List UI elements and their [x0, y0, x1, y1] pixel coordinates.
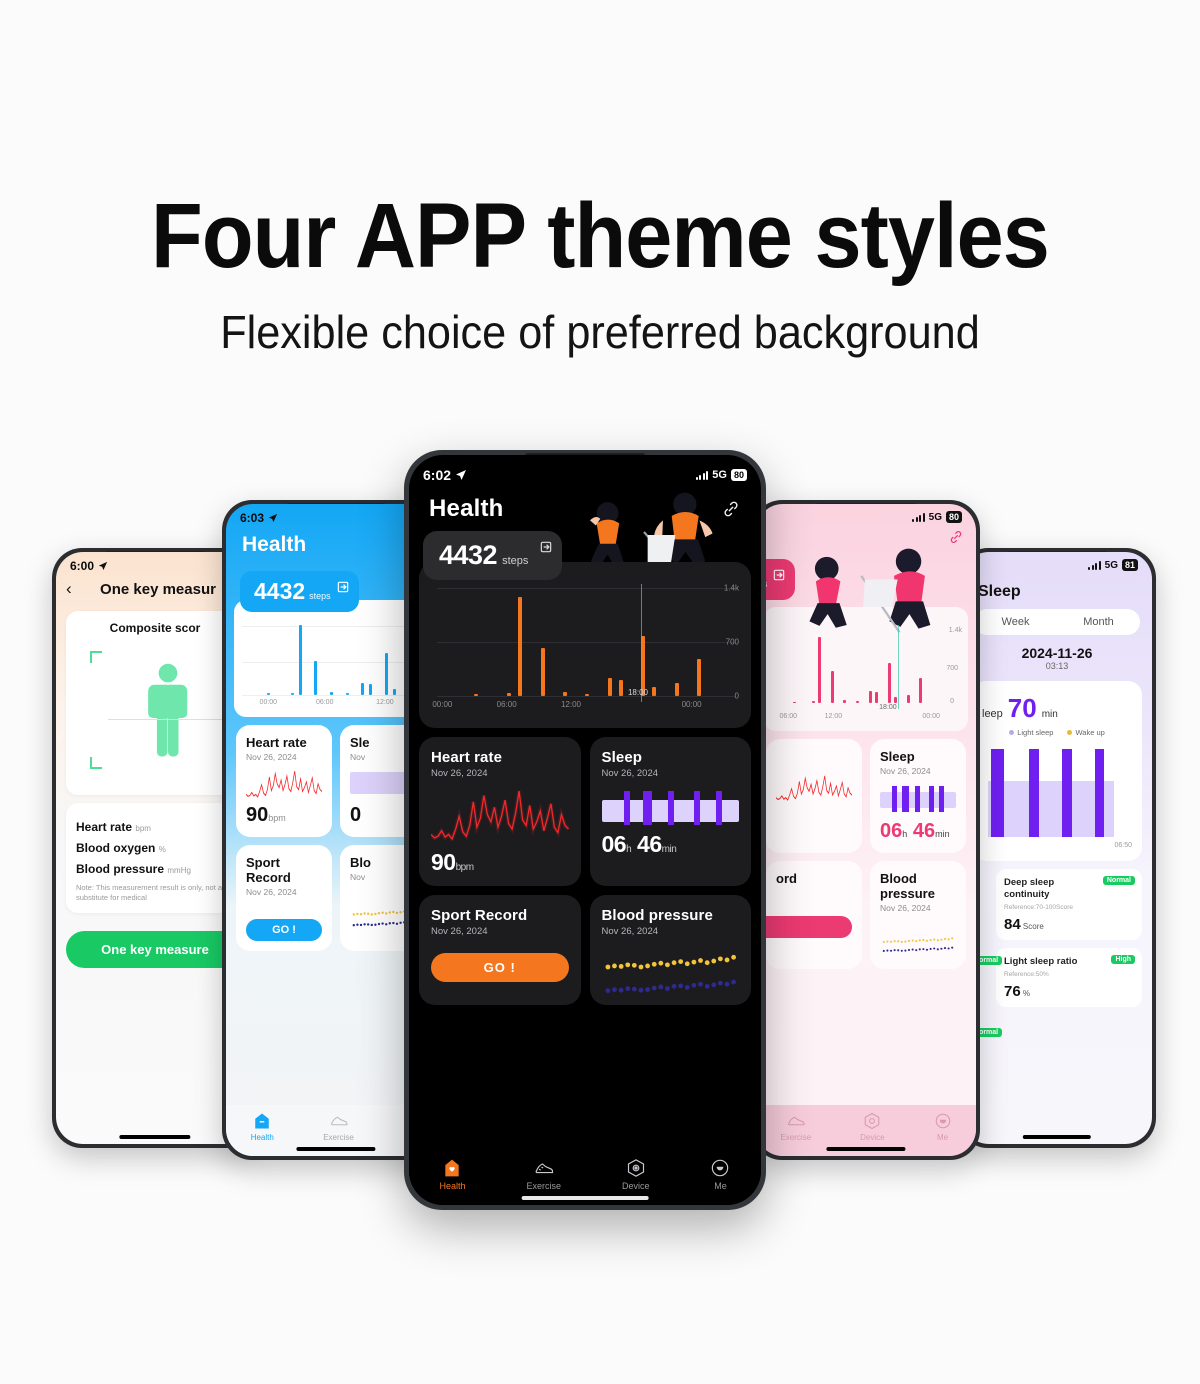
- chart-bar: [619, 680, 623, 696]
- chart-bar: [385, 653, 388, 695]
- signal-bars-icon: [912, 513, 925, 522]
- card-date: Nov 26, 2024: [431, 768, 569, 779]
- person-icon: [710, 1158, 730, 1178]
- bp-dot: [356, 924, 358, 926]
- card-title: Sleep: [880, 749, 956, 764]
- chart-end-label: 06:50: [982, 842, 1132, 849]
- bp-dot: [915, 949, 917, 951]
- bp-dot: [625, 962, 630, 967]
- home-health-icon: [253, 1112, 271, 1130]
- legend-light-sleep: Light sleep: [1009, 728, 1053, 737]
- bp-dot: [933, 938, 935, 940]
- steps-unit: steps: [309, 591, 331, 603]
- chart-bar: [812, 701, 815, 703]
- card-title: Sport Record: [246, 855, 322, 885]
- status-badge: Normal: [1103, 876, 1135, 885]
- chart-bar: [563, 692, 567, 696]
- chart-bar: [919, 678, 922, 703]
- chart-bar: [831, 671, 834, 703]
- card-date: Nov 26, 2024: [880, 903, 956, 913]
- bp-dot: [378, 923, 380, 925]
- bp-dot: [883, 950, 885, 952]
- bp-dot: [915, 940, 917, 942]
- bp-dot: [698, 958, 703, 963]
- chart-bar: [888, 663, 891, 703]
- battery-level: 81: [1122, 559, 1138, 571]
- device-icon: [626, 1158, 646, 1178]
- export-icon[interactable]: [539, 540, 553, 554]
- bp-dot: [638, 988, 643, 993]
- bp-dot: [684, 961, 689, 966]
- chart-bar: [393, 689, 396, 696]
- bp-dot: [645, 964, 650, 969]
- status-bar: 5G 81: [962, 552, 1152, 573]
- phone-pink-theme[interactable]: 5G 80: [752, 500, 980, 1160]
- card-blood-pressure[interactable]: Blood pressure Nov 26, 2024: [590, 895, 752, 1005]
- bp-dot: [381, 922, 383, 924]
- metric-label: Heart rate: [76, 820, 132, 834]
- tab-device[interactable]: Device: [622, 1158, 650, 1191]
- card-title: Blood pressure: [602, 907, 740, 924]
- card-title: ord: [776, 871, 852, 886]
- location-arrow-icon: [98, 561, 108, 571]
- bp-dot: [631, 963, 636, 968]
- bp-dot: [908, 940, 910, 942]
- dark-theme-screen: 6:02 5G 80 Health: [409, 455, 761, 1205]
- bp-dot: [381, 912, 383, 914]
- bp-dot: [937, 948, 939, 950]
- y-tick-label: 0: [735, 692, 739, 701]
- bp-dot: [717, 956, 722, 961]
- composite-score-label: Composite scor: [76, 621, 234, 635]
- link-icon[interactable]: [948, 529, 964, 545]
- chart-bar: [585, 694, 589, 696]
- location-arrow-icon: [455, 469, 467, 481]
- card-title: Sleep: [602, 749, 740, 766]
- bp-dot: [684, 985, 689, 990]
- status-bar: 6:02 5G 80: [409, 455, 761, 485]
- card-sleep[interactable]: Sleep Nov 26, 2024 06h 46min: [870, 739, 966, 853]
- bp-dot: [724, 958, 729, 963]
- bp-dot: [922, 948, 924, 950]
- bp-dot: [930, 948, 932, 950]
- card-date: Nov 26, 2024: [431, 926, 569, 937]
- bp-dot: [658, 961, 663, 966]
- chart-bar: [507, 693, 511, 696]
- bp-dot: [948, 938, 950, 940]
- bp-dot: [930, 939, 932, 941]
- chart-bar: [856, 701, 859, 703]
- card-unit: Score: [1023, 922, 1044, 931]
- blood-pressure-dots: [880, 929, 956, 959]
- tab-me[interactable]: Me: [934, 1112, 952, 1142]
- sleep-summary-card[interactable]: leep 70 min Light sleep Wake up: [972, 681, 1142, 861]
- metric-row: Blood pressure mmHg: [76, 862, 234, 876]
- heart-rate-waveform: [776, 775, 852, 803]
- tab-me[interactable]: Me: [710, 1158, 730, 1191]
- bp-dot: [392, 911, 394, 913]
- bp-dot: [894, 949, 896, 951]
- chart-bar: [369, 684, 372, 695]
- metric-cards-grid: Heart rate Nov 26, 2024 90bpm Sleep Nov: [409, 728, 761, 1005]
- chart-bar: [608, 678, 612, 696]
- chart-bar: [869, 691, 872, 703]
- bp-dot: [605, 988, 610, 993]
- bp-dot: [371, 924, 373, 926]
- segment-week[interactable]: Week: [974, 609, 1057, 635]
- bp-dot: [665, 986, 670, 991]
- shoe-icon: [534, 1158, 554, 1178]
- sleep-stage-bars: [880, 786, 956, 812]
- steps-unit: steps: [502, 555, 528, 569]
- bp-dot: [731, 980, 736, 985]
- bp-dot: [612, 964, 617, 969]
- location-arrow-icon: [268, 513, 278, 523]
- bp-dot: [704, 960, 709, 965]
- bp-dot: [363, 923, 365, 925]
- chart-bar: [818, 637, 821, 703]
- card-value: 06h 46min: [880, 820, 956, 843]
- card-unit: %: [1023, 989, 1030, 998]
- bp-dot: [678, 983, 683, 988]
- bp-dot: [389, 922, 391, 924]
- home-indicator: [522, 1196, 649, 1200]
- metric-unit: %: [159, 845, 166, 854]
- tab-health[interactable]: Health: [251, 1112, 274, 1142]
- metrics-card[interactable]: Heart rate bpm Blood oxygen % Blood pres…: [66, 803, 244, 913]
- bp-dot: [645, 987, 650, 992]
- card-value: 90bpm: [431, 849, 569, 876]
- bp-dot: [704, 984, 709, 989]
- signal-bars-icon: [696, 471, 709, 480]
- bp-dot: [711, 982, 716, 987]
- selected-date: 2024-11-26: [962, 645, 1152, 661]
- card-date: Nov 26, 2024: [246, 887, 322, 897]
- chart-bar: [641, 636, 645, 696]
- chart-bar: [330, 692, 333, 695]
- go-button[interactable]: GO !: [431, 953, 569, 982]
- bp-dot: [353, 913, 355, 915]
- chart-bar: [541, 648, 545, 696]
- summary-prefix: leep: [982, 708, 1003, 720]
- metric-row: Heart rate bpm: [76, 820, 234, 834]
- steps-chart-card[interactable]: 07001.4k 00:0006:0012:0018:0000:00: [419, 562, 751, 728]
- home-indicator: [119, 1135, 190, 1139]
- summary-unit: min: [1042, 709, 1058, 720]
- one-key-measure-button[interactable]: One key measure: [66, 931, 244, 968]
- bp-dot: [912, 939, 914, 941]
- card-title: Light sleep ratio: [1004, 956, 1095, 968]
- heart-rate-waveform: [246, 770, 322, 800]
- network-type: 5G: [712, 469, 727, 481]
- phone-dark-theme[interactable]: 6:02 5G 80 Health: [404, 450, 766, 1210]
- period-segmented-control[interactable]: Week Month: [974, 609, 1140, 635]
- status-badge: High: [1111, 955, 1135, 964]
- bp-dot: [367, 913, 369, 915]
- bp-dot: [919, 939, 921, 941]
- bp-dot: [678, 959, 683, 964]
- selected-time: 03:13: [962, 661, 1152, 671]
- y-tick-label: 700: [726, 638, 739, 647]
- x-tick-label: 12:00: [376, 699, 394, 706]
- x-tick-label: 00:00: [432, 700, 452, 709]
- bp-dot: [912, 948, 914, 950]
- page-header-title: Health: [429, 495, 504, 523]
- bp-dot: [378, 912, 380, 914]
- status-bar: 5G 80: [756, 504, 976, 525]
- bp-dot: [631, 987, 636, 992]
- steps-chart: 07001.4k: [437, 588, 705, 696]
- bp-dot: [618, 988, 623, 993]
- sleep-chart: [982, 747, 1132, 839]
- card-date: Nov 26, 2024: [246, 752, 322, 762]
- chart-bar: [675, 683, 679, 696]
- metric-unit: mmHg: [167, 866, 191, 875]
- steps-value: 4432: [254, 580, 305, 603]
- pink-theme-screen: 5G 80: [756, 504, 976, 1156]
- bp-dot: [940, 939, 942, 941]
- go-button[interactable]: GO !: [246, 919, 322, 941]
- shoe-icon: [787, 1112, 805, 1130]
- metric-label: Blood oxygen: [76, 841, 155, 855]
- chart-bar: [697, 659, 701, 696]
- bp-dot: [605, 965, 610, 970]
- y-tick-label: 1.4k: [724, 584, 739, 593]
- steps-value: 4432: [439, 542, 497, 569]
- card-sport-record[interactable]: ord: [766, 861, 862, 969]
- bp-dot: [901, 950, 903, 952]
- bp-dot: [894, 940, 896, 942]
- bp-dot: [904, 950, 906, 952]
- bp-dot: [399, 911, 401, 913]
- tab-health[interactable]: Health: [439, 1158, 465, 1191]
- home-indicator: [296, 1147, 375, 1151]
- tab-device[interactable]: Device: [860, 1112, 884, 1142]
- x-tick-label: 00:00: [260, 699, 278, 706]
- bp-dot: [671, 960, 676, 965]
- battery-level: 80: [731, 469, 747, 481]
- chart-bar: [875, 692, 878, 703]
- phone-purple-theme[interactable]: 5G 81 Sleep Week Month 2024-11-26 03:13 …: [958, 548, 1156, 1148]
- bp-dot: [353, 924, 355, 926]
- bp-dot: [360, 913, 362, 915]
- chart-bar: [907, 695, 910, 703]
- x-tick-label: 06:00: [497, 700, 517, 709]
- card-deep-sleep-continuity[interactable]: Normal Deep sleep continuity Reference:7…: [996, 869, 1142, 940]
- legend-wake-up: Wake up: [1067, 728, 1104, 737]
- bp-dot: [392, 922, 394, 924]
- bp-dot: [356, 913, 358, 915]
- nav-title: One key measur: [72, 581, 244, 598]
- go-button[interactable]: [756, 916, 852, 938]
- card-title: Heart rate: [431, 749, 569, 766]
- card-sleep[interactable]: Sleep Nov 26, 2024 06h 46min: [590, 737, 752, 886]
- bp-dot: [904, 941, 906, 943]
- tab-exercise[interactable]: Exercise: [780, 1112, 811, 1142]
- card-light-sleep-ratio[interactable]: High Light sleep ratio Reference:50% 76 …: [996, 948, 1142, 1007]
- date-block: 2024-11-26 03:13: [962, 645, 1152, 671]
- chart-bar: [267, 693, 270, 695]
- chart-bar: [314, 661, 317, 695]
- bars-group: [437, 588, 705, 696]
- status-time: 6:02: [423, 467, 451, 483]
- bp-dot: [389, 911, 391, 913]
- status-time: 6:00: [70, 559, 94, 573]
- x-tick-label: 06:00: [316, 699, 334, 706]
- home-health-icon: [442, 1158, 462, 1178]
- metric-unit: bpm: [135, 824, 151, 833]
- export-icon[interactable]: [772, 568, 786, 582]
- sleep-stage-bars: [602, 791, 740, 825]
- card-heart-rate[interactable]: Heart rate Nov 26, 2024 90bpm: [419, 737, 581, 886]
- card-title: Blood pressure: [880, 871, 956, 901]
- blood-pressure-dots: [602, 951, 740, 995]
- shoe-icon: [330, 1112, 348, 1130]
- bp-dot: [717, 981, 722, 986]
- link-icon[interactable]: [721, 499, 741, 519]
- card-value: 90bpm: [246, 804, 322, 827]
- card-heart-rate[interactable]: Heart rate Nov 26, 2024 90bpm: [236, 725, 332, 837]
- bp-dot: [618, 964, 623, 969]
- chart-bar: [361, 683, 364, 695]
- chart-bar: [346, 693, 349, 695]
- card-date: Nov 26, 2024: [602, 768, 740, 779]
- bp-dot: [396, 923, 398, 925]
- bp-dot: [374, 913, 376, 915]
- bp-dot: [360, 924, 362, 926]
- bp-dot: [371, 913, 373, 915]
- chart-bar: [843, 700, 846, 703]
- bp-dot: [897, 949, 899, 951]
- battery-level: 80: [946, 511, 962, 523]
- bp-dot: [374, 924, 376, 926]
- card-sport-record[interactable]: Sport Record Nov 26, 2024 GO !: [236, 845, 332, 951]
- card-reference: Reference:50%: [1004, 971, 1134, 978]
- bp-dot: [671, 984, 676, 989]
- app-header: Health: [409, 485, 761, 523]
- chart-bar: [474, 694, 478, 696]
- bp-dot: [698, 982, 703, 987]
- bp-dot: [399, 922, 401, 924]
- bp-dot: [890, 941, 892, 943]
- card-title: Sport Record: [431, 907, 569, 924]
- bp-dot: [919, 948, 921, 950]
- bp-dot: [897, 940, 899, 942]
- bp-dot: [937, 939, 939, 941]
- card-heart-rate[interactable]: [766, 739, 862, 853]
- chart-legend: Light sleep Wake up: [982, 728, 1132, 737]
- card-blood-pressure[interactable]: Blood pressure Nov 26, 2024: [870, 861, 966, 969]
- bp-dot: [724, 982, 729, 987]
- composite-score-card[interactable]: Composite scor: [66, 611, 244, 795]
- card-title: Deep sleep continuity: [1004, 877, 1095, 901]
- card-sport-record[interactable]: Sport Record Nov 26, 2024 GO !: [419, 895, 581, 1005]
- card-value: 84: [1004, 916, 1021, 933]
- bp-dot: [731, 955, 736, 960]
- card-reference: Reference:70-100Score: [1004, 904, 1134, 911]
- chart-bar: [894, 697, 897, 703]
- tab-exercise[interactable]: Exercise: [323, 1112, 354, 1142]
- page-header-title: Sleep: [962, 573, 1152, 601]
- bp-dot: [363, 912, 365, 914]
- metric-cards-grid: Sleep Nov 26, 2024 06h 46min: [756, 731, 976, 969]
- now-marker-line: [641, 584, 642, 702]
- chart-bar: [518, 597, 522, 697]
- bp-dot: [933, 947, 935, 949]
- bp-dot: [612, 987, 617, 992]
- status-time: 6:03: [240, 511, 264, 525]
- bp-dot: [922, 939, 924, 941]
- bp-dot: [951, 947, 953, 949]
- human-body-icon: [76, 635, 234, 785]
- bp-dot: [651, 962, 656, 967]
- bp-dot: [944, 947, 946, 949]
- bp-dot: [638, 965, 643, 970]
- chart-bar: [299, 625, 302, 695]
- signal-bars-icon: [1088, 561, 1101, 570]
- chart-bar: [652, 687, 656, 696]
- card-value: 06h 46min: [602, 831, 740, 858]
- tab-exercise[interactable]: Exercise: [526, 1158, 561, 1191]
- bp-dot: [944, 938, 946, 940]
- bp-dot: [711, 959, 716, 964]
- network-type: 5G: [1105, 560, 1118, 571]
- card-title: Heart rate: [246, 735, 322, 750]
- device-icon: [863, 1112, 881, 1130]
- bp-dot: [658, 985, 663, 990]
- bp-dot: [367, 923, 369, 925]
- bp-dot: [396, 912, 398, 914]
- bp-dot: [883, 941, 885, 943]
- steps-chart: [242, 618, 430, 696]
- steps-hero: 4432 steps 07001.4k 00:0006:0012:0018:00…: [419, 531, 751, 728]
- sleep-detail-cards: Normal Deep sleep continuity Reference:7…: [962, 861, 1152, 1007]
- segment-month[interactable]: Month: [1057, 609, 1140, 635]
- steps-chip[interactable]: 4432 steps: [240, 571, 359, 612]
- card-value: 76: [1004, 983, 1021, 1000]
- steps-chart-x-axis: 00:0006:0012:0018:0000:00: [437, 700, 705, 716]
- bp-dot: [948, 947, 950, 949]
- chart-bar: [291, 693, 294, 695]
- network-type: 5G: [929, 512, 942, 523]
- metric-label: Blood pressure: [76, 862, 164, 876]
- x-tick-label: 12:00: [561, 700, 581, 709]
- bp-dot: [901, 941, 903, 943]
- x-tick-label: 18:00: [628, 688, 648, 697]
- steps-chip[interactable]: 4432 steps: [423, 531, 562, 580]
- disclaimer-note: Note: This measurement result is only, n…: [76, 883, 234, 903]
- bp-dot: [625, 986, 630, 991]
- steps-chart: 1.4k 700 0: [772, 629, 960, 713]
- bp-dot: [926, 940, 928, 942]
- bp-dot: [886, 941, 888, 943]
- bp-dot: [691, 960, 696, 965]
- grid-line: [437, 696, 735, 697]
- phones-stage: 6:00 ‹ One key measur Composite scor: [0, 0, 1200, 1384]
- bp-dot: [385, 912, 387, 914]
- x-tick-label: 00:00: [682, 700, 702, 709]
- card-date: Nov 26, 2024: [602, 926, 740, 937]
- home-indicator: [826, 1147, 905, 1151]
- bp-dot: [908, 949, 910, 951]
- purple-theme-screen: 5G 81 Sleep Week Month 2024-11-26 03:13 …: [962, 552, 1152, 1144]
- bp-dot: [651, 986, 656, 991]
- home-indicator: [1023, 1135, 1091, 1139]
- summary-value: 70: [1008, 693, 1037, 724]
- metric-row: Blood oxygen %: [76, 841, 234, 855]
- export-icon[interactable]: [336, 580, 350, 594]
- bp-dot: [691, 983, 696, 988]
